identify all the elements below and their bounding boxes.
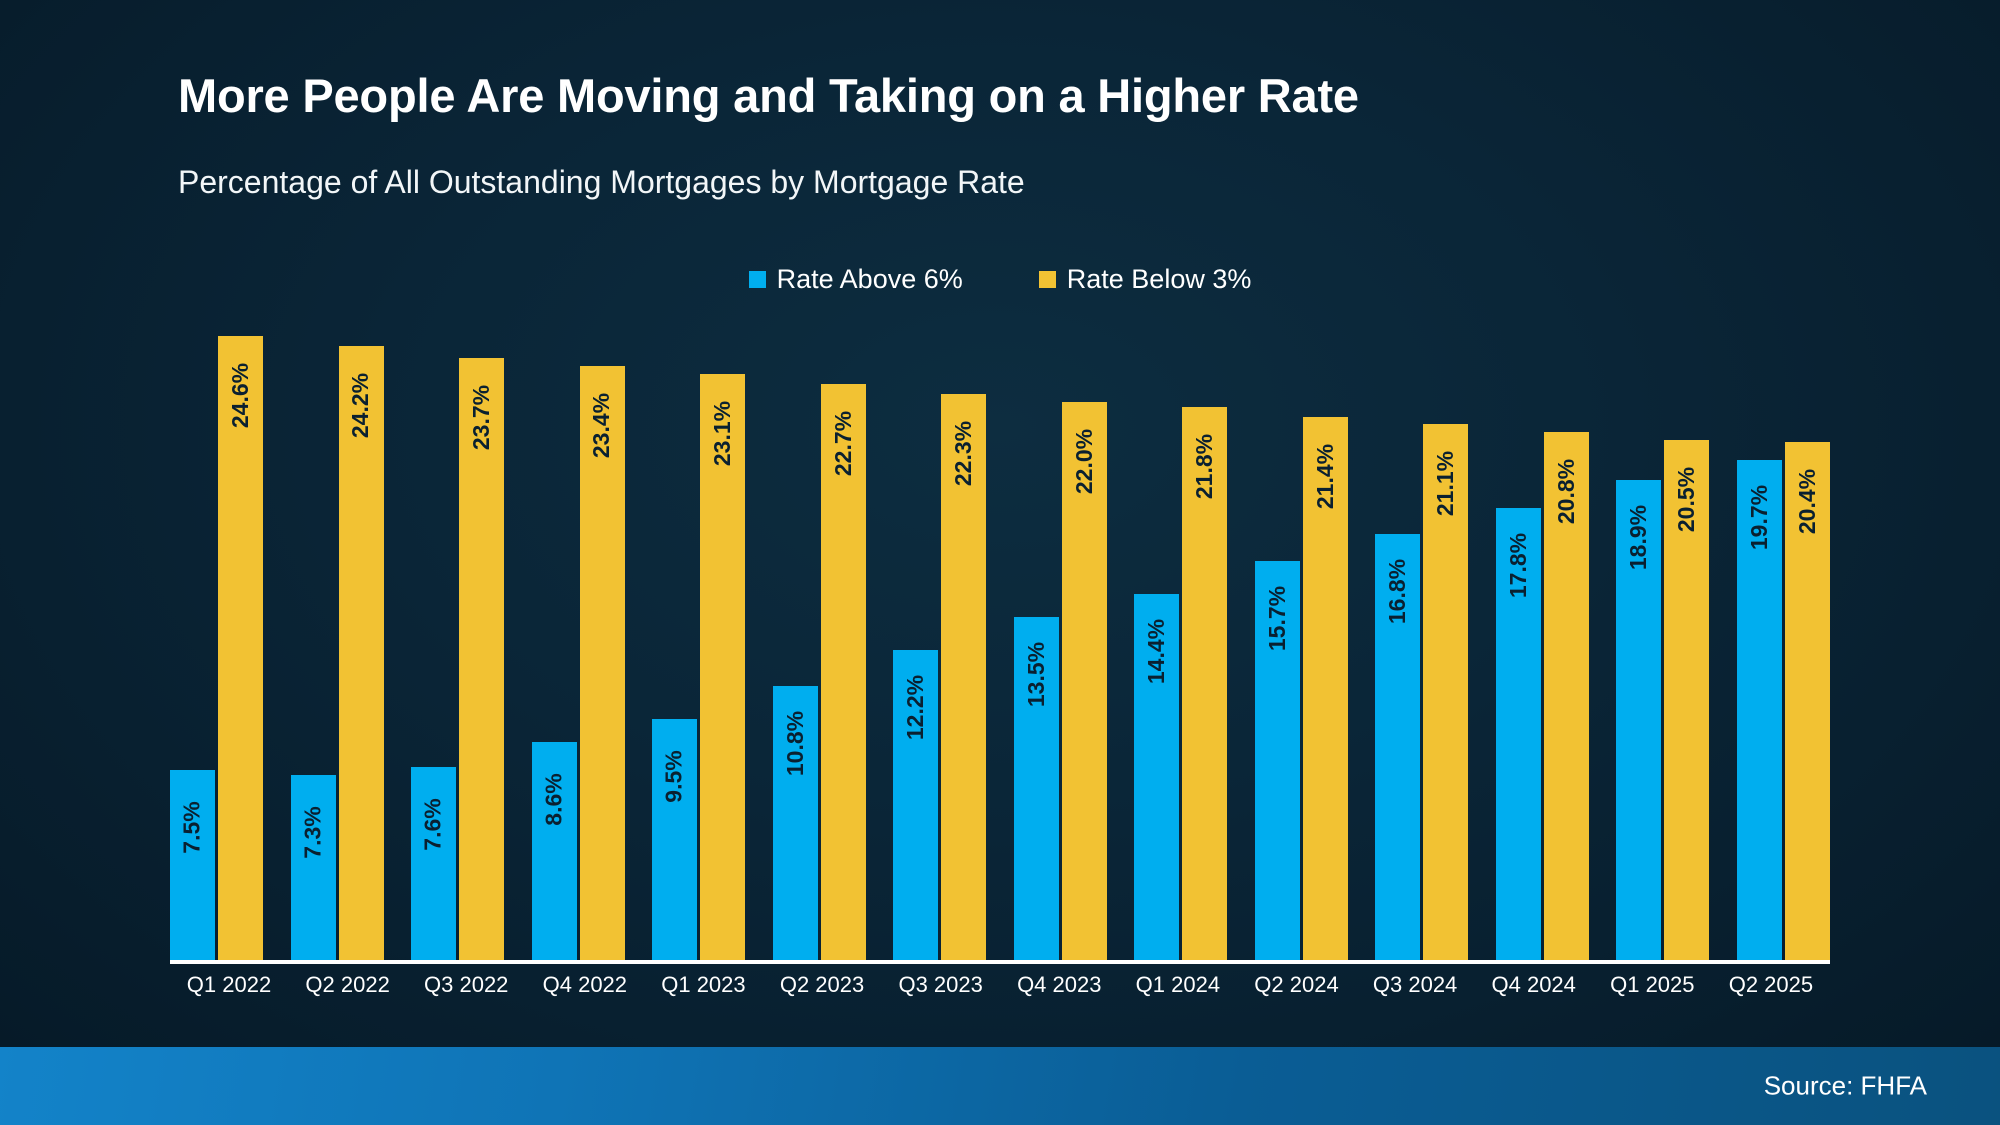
x-axis-label: Q3 2023 [882,972,1000,1012]
bar-value-label: 7.5% [181,801,204,853]
bar-group: 7.6%23.7% [411,300,504,960]
legend-item-rate-above-6[interactable]: Rate Above 6% [749,264,963,295]
bar-group: 7.3%24.2% [291,300,384,960]
bar-rate-above-6[interactable]: 7.3% [291,775,336,960]
x-axis-label: Q1 2023 [644,972,762,1012]
bar-group: 17.8%20.8% [1496,300,1589,960]
bar-value-label: 16.8% [1386,558,1409,623]
bar-value-label: 15.7% [1266,586,1289,651]
bar-rate-below-3[interactable]: 21.4% [1303,417,1348,960]
chart-plot-area: 7.5%24.6%7.3%24.2%7.6%23.7%8.6%23.4%9.5%… [170,300,1830,964]
bar-rate-above-6[interactable]: 12.2% [893,650,938,960]
x-axis-label: Q2 2024 [1237,972,1355,1012]
bar-group: 10.8%22.7% [773,300,866,960]
bar-value-label: 23.7% [470,385,493,450]
x-axis-label: Q4 2024 [1475,972,1593,1012]
bar-value-label: 21.8% [1193,434,1216,499]
bar-value-label: 20.5% [1675,467,1698,532]
bar-group: 12.2%22.3% [893,300,986,960]
bar-rate-above-6[interactable]: 18.9% [1616,480,1661,960]
bar-rate-above-6[interactable]: 14.4% [1134,594,1179,960]
bar-value-label: 23.1% [711,401,734,466]
bar-group: 9.5%23.1% [652,300,745,960]
x-axis-label: Q4 2023 [1000,972,1118,1012]
bar-rate-above-6[interactable]: 19.7% [1737,460,1782,960]
bar-value-label: 18.9% [1627,505,1650,570]
x-axis-label: Q2 2023 [763,972,881,1012]
bar-rate-above-6[interactable]: 17.8% [1496,508,1541,960]
bar-rate-above-6[interactable]: 15.7% [1255,561,1300,960]
bar-rate-below-3[interactable]: 24.6% [218,336,263,960]
bar-rate-above-6[interactable]: 7.5% [170,770,215,960]
bar-rate-above-6[interactable]: 10.8% [773,686,818,960]
square-swatch-icon [749,271,766,288]
square-swatch-icon [1039,271,1056,288]
bar-group: 14.4%21.8% [1134,300,1227,960]
bar-rate-above-6[interactable]: 7.6% [411,767,456,960]
x-axis-label: Q3 2022 [407,972,525,1012]
legend-item-label: Rate Below 3% [1067,264,1252,295]
legend-item-rate-below-3[interactable]: Rate Below 3% [1039,264,1252,295]
bar-group: 8.6%23.4% [532,300,625,960]
bar-value-label: 13.5% [1025,642,1048,707]
bar-rate-below-3[interactable]: 21.8% [1182,407,1227,960]
x-axis-label: Q2 2022 [289,972,407,1012]
bar-value-label: 21.1% [1434,451,1457,516]
bar-value-label: 23.4% [591,393,614,458]
bar-rate-above-6[interactable]: 13.5% [1014,617,1059,960]
bar-rate-below-3[interactable]: 22.3% [941,394,986,960]
legend-item-label: Rate Above 6% [777,264,963,295]
bar-group: 16.8%21.1% [1375,300,1468,960]
bar-value-label: 20.8% [1555,459,1578,524]
x-axis-label: Q1 2022 [170,972,288,1012]
chart-subtitle: Percentage of All Outstanding Mortgages … [178,164,1025,201]
x-axis-label: Q2 2025 [1712,972,1830,1012]
x-axis-label: Q1 2025 [1593,972,1711,1012]
bar-value-label: 22.3% [952,421,975,486]
source-attribution: Source: FHFA [1764,1071,1927,1102]
bar-value-label: 20.4% [1796,469,1819,534]
x-axis-line [170,960,1830,964]
bar-value-label: 8.6% [543,773,566,825]
bar-rate-below-3[interactable]: 22.7% [821,384,866,960]
bar-group: 7.5%24.6% [170,300,263,960]
bar-value-label: 24.2% [350,373,373,438]
bar-rate-below-3[interactable]: 22.0% [1062,402,1107,960]
bar-group: 19.7%20.4% [1737,300,1830,960]
bar-rate-below-3[interactable]: 20.4% [1785,442,1830,960]
bar-value-label: 12.2% [904,675,927,740]
bar-value-label: 22.7% [832,411,855,476]
bar-rate-below-3[interactable]: 23.4% [580,366,625,960]
x-axis-tick-labels: Q1 2022Q2 2022Q3 2022Q4 2022Q1 2023Q2 20… [170,972,1830,1012]
bar-value-label: 24.6% [229,362,252,427]
x-axis-label: Q3 2024 [1356,972,1474,1012]
bar-value-label: 10.8% [784,711,807,776]
bar-rate-below-3[interactable]: 20.5% [1664,440,1709,960]
bar-rate-below-3[interactable]: 24.2% [339,346,384,960]
bar-rate-above-6[interactable]: 9.5% [652,719,697,960]
bar-value-label: 19.7% [1748,485,1771,550]
bar-value-label: 7.3% [302,806,325,858]
bar-value-label: 22.0% [1073,428,1096,493]
bar-rate-above-6[interactable]: 16.8% [1375,534,1420,960]
chart-legend: Rate Above 6%Rate Below 3% [0,264,2000,295]
footer-bar: Source: FHFA [0,1047,2000,1125]
bar-group: 15.7%21.4% [1255,300,1348,960]
bar-value-label: 14.4% [1145,619,1168,684]
bar-rate-below-3[interactable]: 20.8% [1544,432,1589,960]
bar-group: 13.5%22.0% [1014,300,1107,960]
bar-value-label: 7.6% [422,798,445,850]
bar-rate-below-3[interactable]: 23.7% [459,358,504,960]
page-title: More People Are Moving and Taking on a H… [178,68,1359,123]
chart-slide: More People Are Moving and Taking on a H… [0,0,2000,1125]
bar-rate-below-3[interactable]: 21.1% [1423,424,1468,960]
x-axis-label: Q1 2024 [1119,972,1237,1012]
bar-value-label: 21.4% [1314,444,1337,509]
x-axis-label: Q4 2022 [526,972,644,1012]
bar-group: 18.9%20.5% [1616,300,1709,960]
bar-value-label: 17.8% [1507,533,1530,598]
bar-rate-below-3[interactable]: 23.1% [700,374,745,960]
bar-value-label: 9.5% [663,750,686,802]
bar-groups: 7.5%24.6%7.3%24.2%7.6%23.7%8.6%23.4%9.5%… [170,300,1830,960]
bar-rate-above-6[interactable]: 8.6% [532,742,577,960]
